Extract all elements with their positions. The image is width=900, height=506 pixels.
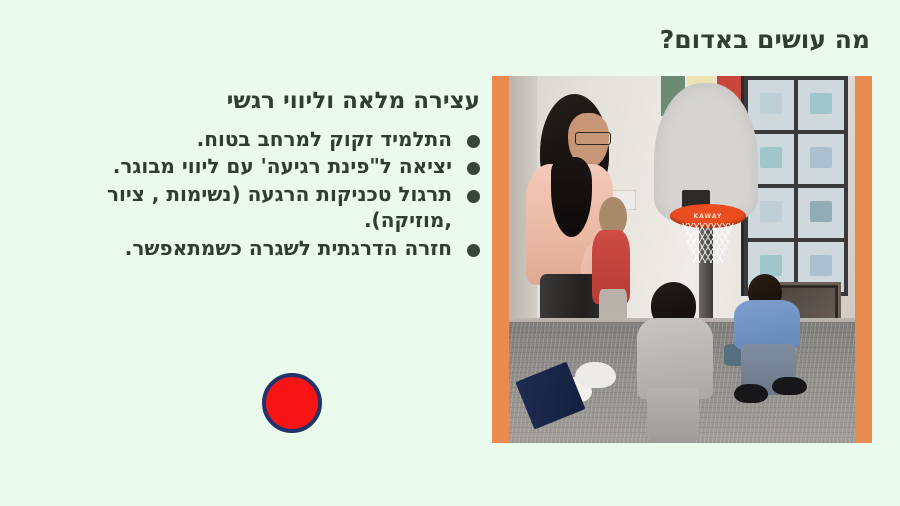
photo-window-pane xyxy=(798,80,844,130)
list-item: התלמיד זקוק למרחב בטוח. xyxy=(60,126,480,153)
list-item-label: יציאה ל"פינת רגיעה' עם ליווי מבוגר. xyxy=(60,153,452,180)
bullet-dot-icon xyxy=(467,244,480,257)
content-text-column: עצירה מלאה וליווי רגשי התלמיד זקוק למרחב… xyxy=(60,88,480,263)
photo-boy-blue-shoe xyxy=(772,377,807,395)
classroom-photo: KAWAY xyxy=(509,76,855,443)
photo-frame: KAWAY xyxy=(492,76,872,443)
photo-window-pane xyxy=(748,80,794,130)
bullet-dot-icon xyxy=(467,135,480,148)
slide-canvas: מה עושים באדום? עצירה מלאה וליווי רגשי ה… xyxy=(0,0,900,506)
photo-boy-grey-body xyxy=(637,318,713,399)
photo-window-grid xyxy=(748,80,844,292)
photo-adult-glasses xyxy=(575,132,612,145)
list-item: תרגול טכניקות הרגעה (נשימות , ציור ,מוזי… xyxy=(60,181,480,234)
bullet-list: התלמיד זקוק למרחב בטוח. יציאה ל"פינת רגי… xyxy=(60,126,480,262)
bullet-dot-icon xyxy=(467,162,480,175)
list-item: חזרה הדרגתית לשגרה כשמתאפשר. xyxy=(60,235,480,262)
page-title: מה עושים באדום? xyxy=(350,26,870,55)
photo-boy-blue-shoe xyxy=(734,384,769,402)
photo-adult-shoe xyxy=(575,362,617,388)
bullet-dot-icon xyxy=(467,190,480,203)
photo-window-pane xyxy=(798,134,844,184)
photo-window-pane xyxy=(798,188,844,238)
red-indicator xyxy=(262,373,322,433)
red-circle-icon xyxy=(262,373,322,433)
photo-boy-grey-legs xyxy=(647,388,699,443)
list-item-label: חזרה הדרגתית לשגרה כשמתאפשר. xyxy=(60,235,452,262)
list-item-label: תרגול טכניקות הרגעה (נשימות , ציור ,מוזי… xyxy=(60,181,452,234)
section-heading: עצירה מלאה וליווי רגשי xyxy=(60,88,480,116)
list-item: יציאה ל"פינת רגיעה' עם ליווי מבוגר. xyxy=(60,153,480,180)
list-item-label: התלמיד זקוק למרחב בטוח. xyxy=(60,126,452,153)
